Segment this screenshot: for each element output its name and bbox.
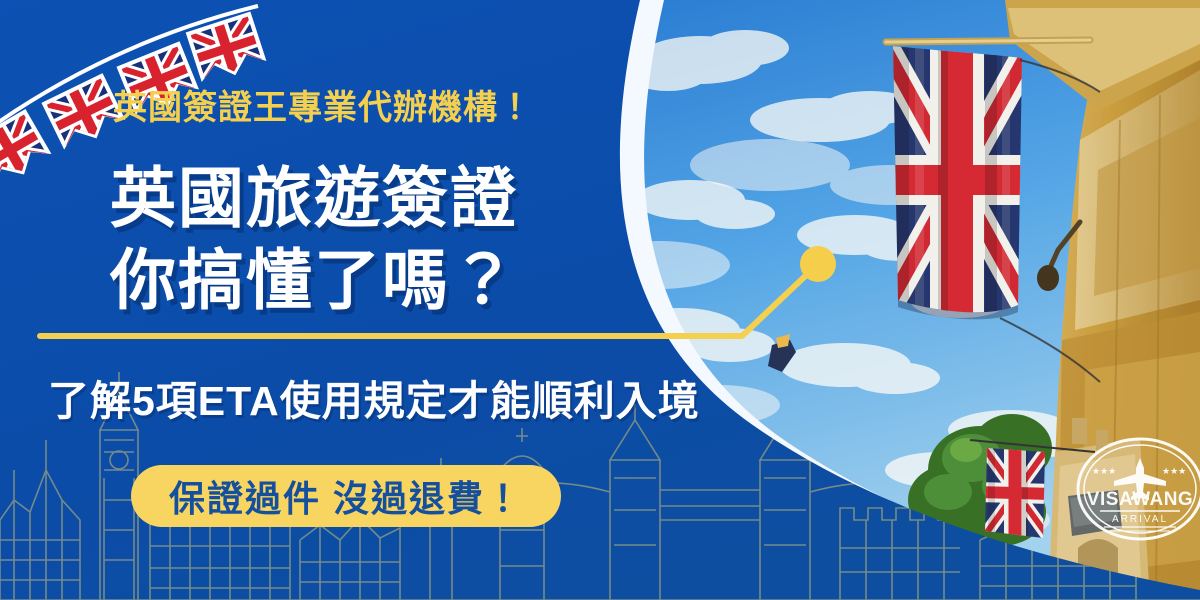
logo-stars-left: ★★★ [1092,467,1116,477]
guarantee-cta-label: 保證過件 沒過退費！ [169,470,523,522]
logo-brand: VISAWANG [1087,489,1193,510]
subtitle-text: 了解5項ETA使用規定才能順利入境 [48,367,700,427]
yellow-accent-dot [800,246,836,282]
logo-stars-right: ★★★ [1162,467,1186,477]
headline-line-2: 你搞懂了嗎？ [110,227,518,323]
eyebrow-text: 英國簽證王專業代辦機構！ [113,80,533,129]
logo-tagline: ARRIVAL [1112,514,1168,525]
guarantee-cta-badge[interactable]: 保證過件 沒過退費！ [131,465,561,527]
promo-banner: ★★★ ★★★ VISAWANG ARRIVAL 英國簽證王專業代辦機構！ 英國… [0,0,1200,600]
